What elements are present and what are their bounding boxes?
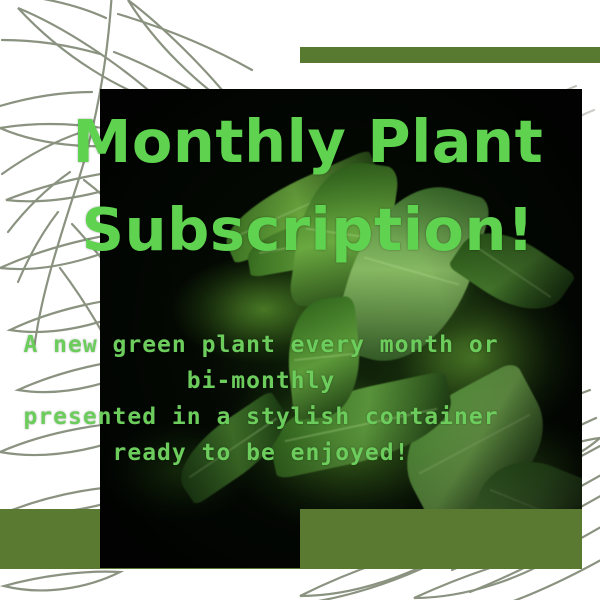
body-line-3: presented in a stylish container	[0, 399, 522, 435]
page-title: Monthly Plant Subscription!	[58, 98, 558, 274]
headline-line-2: Subscription!	[58, 186, 558, 274]
body-copy: A new green plant every month or bi-mont…	[0, 327, 522, 471]
body-line-1: A new green plant every month or	[0, 327, 522, 363]
poster-canvas: Monthly Plant Subscription! A new green …	[0, 0, 600, 600]
body-line-4: ready to be enjoyed!	[0, 435, 522, 471]
olive-accent-bar-top	[300, 47, 600, 63]
olive-accent-bar-bottom-overlay	[300, 509, 582, 569]
body-line-2: bi-monthly	[0, 363, 522, 399]
headline-line-1: Monthly Plant	[58, 98, 558, 186]
